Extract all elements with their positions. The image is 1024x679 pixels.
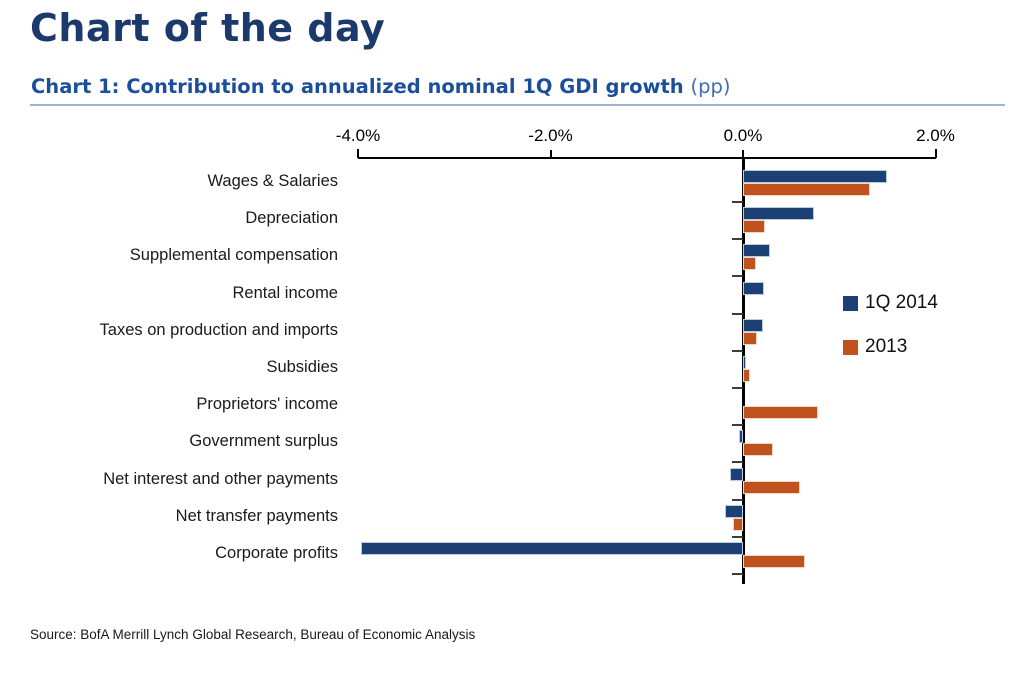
y-axis-tick bbox=[732, 238, 743, 240]
bar-series-1q-2014 bbox=[739, 430, 743, 443]
x-axis-tick-label: -2.0% bbox=[528, 126, 572, 146]
category-label: Depreciation bbox=[245, 209, 338, 228]
y-axis-tick bbox=[732, 461, 743, 463]
category-label: Net transfer payments bbox=[176, 507, 338, 526]
bar-series-2013 bbox=[743, 443, 773, 456]
y-axis-tick bbox=[732, 536, 743, 538]
category-label: Wages & Salaries bbox=[207, 172, 338, 191]
legend-item: 1Q 2014 bbox=[843, 292, 938, 314]
y-axis-tick bbox=[732, 387, 743, 389]
bar-series-1q-2014 bbox=[743, 356, 746, 369]
bar-series-1q-2014 bbox=[743, 207, 814, 220]
category-label: Rental income bbox=[233, 284, 338, 303]
y-axis-tick bbox=[732, 313, 743, 315]
bar-series-1q-2014 bbox=[743, 319, 763, 332]
category-label: Proprietors' income bbox=[196, 395, 338, 414]
chart-legend: 1Q 2014 2013 bbox=[843, 292, 938, 380]
bar-series-2013 bbox=[743, 369, 750, 382]
legend-label-2013: 2013 bbox=[865, 336, 907, 358]
y-axis-tick bbox=[732, 424, 743, 426]
bar-series-1q-2014 bbox=[361, 542, 743, 555]
legend-swatch-2014 bbox=[843, 296, 858, 311]
x-axis-tick bbox=[742, 150, 744, 158]
bar-series-1q-2014 bbox=[730, 468, 743, 481]
bar-series-2013 bbox=[743, 481, 800, 494]
x-axis-tick bbox=[550, 150, 552, 158]
category-label: Net interest and other payments bbox=[103, 470, 338, 489]
bar-series-2013 bbox=[743, 183, 870, 196]
y-axis-tick bbox=[732, 275, 743, 277]
x-axis-tick-label: -4.0% bbox=[336, 126, 380, 146]
bar-series-2013 bbox=[743, 332, 757, 345]
y-axis-tick bbox=[732, 201, 743, 203]
x-axis-tick bbox=[357, 149, 359, 158]
category-label: Taxes on production and imports bbox=[100, 321, 338, 340]
y-axis-tick bbox=[732, 499, 743, 501]
y-axis-tick bbox=[732, 573, 743, 575]
legend-swatch-2013 bbox=[843, 340, 858, 355]
category-label: Government surplus bbox=[189, 432, 338, 451]
bar-series-2013 bbox=[743, 555, 805, 568]
x-axis-line bbox=[358, 157, 936, 159]
legend-label-2014: 1Q 2014 bbox=[865, 292, 938, 314]
bar-series-2013 bbox=[743, 220, 765, 233]
category-label: Subsidies bbox=[266, 358, 338, 377]
source-note: Source: BofA Merrill Lynch Global Resear… bbox=[30, 627, 475, 642]
x-axis-tick-label: 2.0% bbox=[916, 126, 955, 146]
category-label: Corporate profits bbox=[215, 544, 338, 563]
category-label: Supplemental compensation bbox=[130, 246, 338, 265]
bar-series-2013 bbox=[743, 406, 818, 419]
bar-series-1q-2014 bbox=[743, 170, 887, 183]
bar-series-1q-2014 bbox=[743, 244, 770, 257]
bar-series-2013 bbox=[743, 257, 756, 270]
y-axis-tick bbox=[732, 350, 743, 352]
bar-series-1q-2014 bbox=[725, 505, 743, 518]
legend-item: 2013 bbox=[843, 336, 938, 358]
x-axis-tick-label: 0.0% bbox=[724, 126, 763, 146]
bar-series-2013 bbox=[733, 518, 743, 531]
bar-series-1q-2014 bbox=[743, 282, 764, 295]
x-axis-tick bbox=[935, 149, 937, 158]
